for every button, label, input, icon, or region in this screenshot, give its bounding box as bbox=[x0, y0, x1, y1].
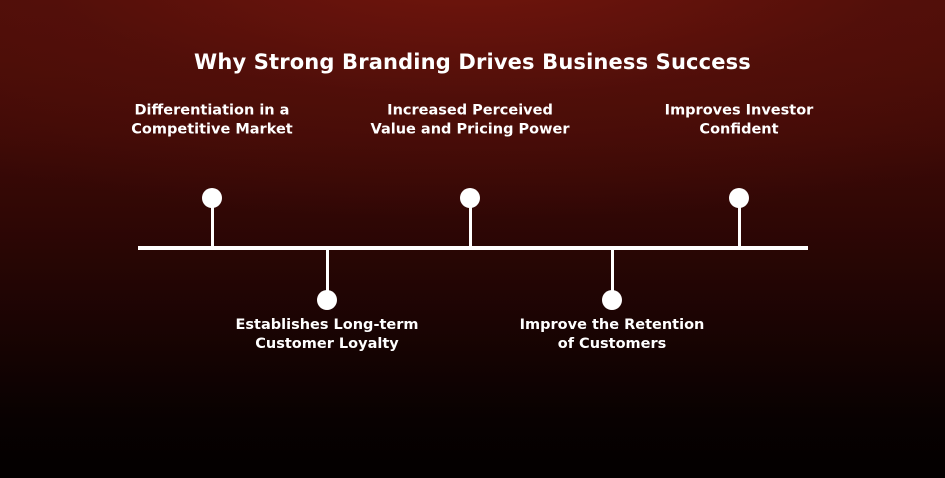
node-label: Improve the Retention of Customers bbox=[482, 316, 742, 355]
node-label-line1: Improve the Retention bbox=[482, 316, 742, 335]
node-dot-icon[interactable] bbox=[202, 188, 222, 208]
node-label: Establishes Long-term Customer Loyalty bbox=[197, 316, 457, 355]
infographic-canvas: Why Strong Branding Drives Business Succ… bbox=[0, 0, 945, 478]
node-label-line2: of Customers bbox=[482, 335, 742, 354]
node-label-line2: Value and Pricing Power bbox=[340, 121, 600, 140]
node-dot-icon[interactable] bbox=[460, 188, 480, 208]
node-label-line1: Increased Perceived bbox=[340, 101, 600, 120]
node-label-line1: Improves Investor bbox=[609, 101, 869, 120]
node-label: Improves Investor Confident bbox=[609, 101, 869, 140]
node-dot-icon[interactable] bbox=[602, 290, 622, 310]
node-label-line1: Differentiation in a bbox=[82, 101, 342, 120]
node-label-line1: Establishes Long-term bbox=[197, 316, 457, 335]
timeline-axis-line bbox=[138, 246, 808, 250]
node-label-line2: Confident bbox=[609, 121, 869, 140]
node-label-line2: Customer Loyalty bbox=[197, 335, 457, 354]
node-label-line2: Competitive Market bbox=[82, 121, 342, 140]
node-dot-icon[interactable] bbox=[729, 188, 749, 208]
page-title: Why Strong Branding Drives Business Succ… bbox=[0, 50, 945, 75]
node-dot-icon[interactable] bbox=[317, 290, 337, 310]
node-label: Increased Perceived Value and Pricing Po… bbox=[340, 101, 600, 140]
node-label: Differentiation in a Competitive Market bbox=[82, 101, 342, 140]
